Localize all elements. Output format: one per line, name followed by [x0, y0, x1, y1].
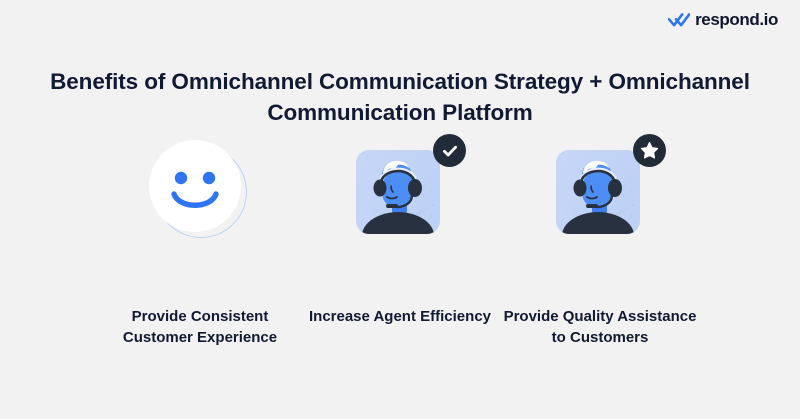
smiley-features	[149, 140, 241, 232]
benefit-card-agent-efficiency: Increase Agent Efficiency	[300, 140, 500, 327]
brand-logo: respond.io	[668, 11, 778, 28]
benefit-card-quality-assistance: Provide Quality Assistance to Customers	[500, 140, 700, 349]
benefit-caption: Provide Consistent Customer Experience	[100, 306, 300, 349]
benefit-card-consistent-experience: Provide Consistent Customer Experience	[100, 140, 300, 349]
benefit-caption: Provide Quality Assistance to Customers	[500, 306, 700, 349]
page-title: Benefits of Omnichannel Communication St…	[35, 67, 765, 128]
double-check-icon	[668, 12, 690, 28]
card-artwork	[348, 140, 452, 244]
benefit-caption: Increase Agent Efficiency	[300, 306, 500, 327]
smiley-face-icon	[148, 140, 252, 244]
brand-name: respond.io	[695, 11, 778, 28]
card-artwork	[148, 140, 252, 244]
support-agent-headset-icon	[356, 150, 440, 234]
benefits-list: Provide Consistent Customer Experience	[0, 140, 800, 349]
star-badge-icon	[633, 134, 666, 167]
check-badge-icon	[433, 134, 466, 167]
support-agent-headset-icon	[556, 150, 640, 234]
card-artwork	[548, 140, 652, 244]
